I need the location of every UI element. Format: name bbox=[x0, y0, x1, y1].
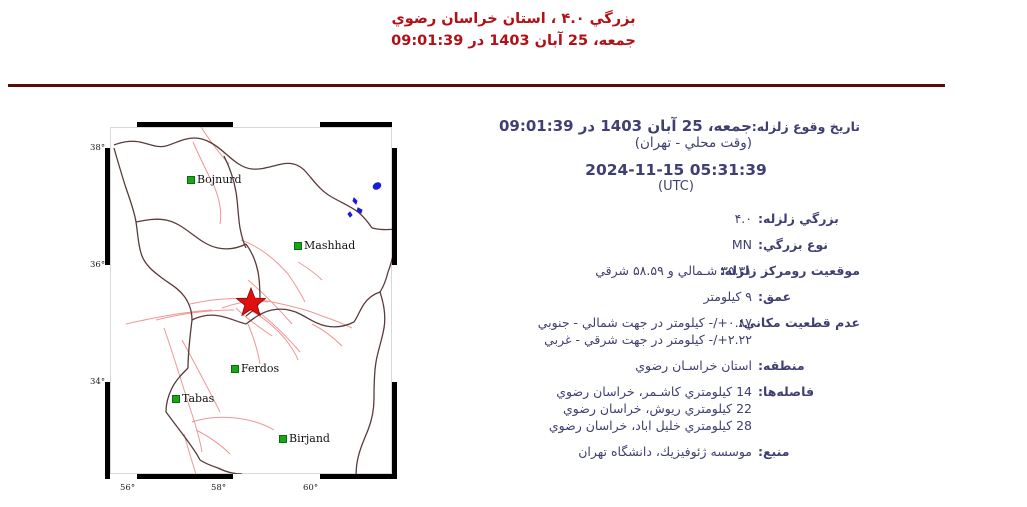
detail-label-magnitude-type: نوع بزرگي: bbox=[752, 236, 860, 253]
map-xtick-60: 60° bbox=[303, 483, 318, 493]
detail-value-source: موسسه ژئوفیزیك، دانشگاه تهران bbox=[430, 443, 752, 460]
map-ytick-36: 36° bbox=[90, 260, 105, 270]
uncertainty-north-south: ۰.۸۷+/- کیلومتر در جهت شمالي - جنوبي bbox=[430, 314, 752, 331]
header-divider bbox=[8, 84, 945, 87]
utc-datetime-value: 2024-11-15 05:31:39 bbox=[492, 161, 860, 179]
distance-item-3: 28 کیلومتري خلیل اباد، خراسان رضوي bbox=[430, 417, 752, 434]
detail-row-depth: عمق: ۹ کیلومتر bbox=[430, 288, 860, 305]
detail-value-magnitude-type: MN bbox=[430, 236, 752, 253]
city-label: Mashhad bbox=[304, 239, 355, 252]
page-header: بزرگي ۴.۰ ، استان خراسان رضوي جمعه، 25 آ… bbox=[0, 8, 1027, 52]
map-xtick-56: 56° bbox=[120, 483, 135, 493]
epicenter-map: 38° 36° 34° 56° 58° 60° Bojnurd Mashhad … bbox=[96, 112, 416, 497]
earthquake-details: تاريخ وقوع زلزله: جمعه، 25 آبان 1403 در … bbox=[430, 118, 860, 469]
detail-row-region: منطقه: استان خراسـان رضوي bbox=[430, 357, 860, 374]
uncertainty-east-west: ۲.۲۲+/- کیلومتر در جهت شرقي - غربي bbox=[430, 331, 752, 348]
map-ytick-38: 38° bbox=[90, 143, 105, 153]
detail-value-magnitude: ۴.۰ bbox=[430, 210, 752, 227]
map-city-ferdos: Ferdos bbox=[231, 362, 279, 375]
distance-item-2: 22 کیلومتري ریوش، خراسان رضوي bbox=[430, 400, 752, 417]
detail-utc-block: 2024-11-15 05:31:39 (UTC) bbox=[430, 161, 860, 194]
city-marker-icon bbox=[172, 395, 180, 403]
city-label: Birjand bbox=[289, 432, 330, 445]
detail-label-uncertainty: عدم قطعيت مکاني: bbox=[752, 314, 860, 331]
datetime-local-note: (وقت محلي - تهران) bbox=[430, 135, 752, 152]
city-marker-icon bbox=[294, 242, 302, 250]
detail-value-datetime: جمعه، 25 آبان 1403 در 09:01:39 (وقت محلي… bbox=[430, 118, 752, 152]
header-title-magnitude-region: بزرگي ۴.۰ ، استان خراسان رضوي bbox=[0, 8, 1027, 30]
detail-row-epicenter: موقعيت رومركز زلزله: ۳۵.۳۱ شـمالي و ۵۸.۵… bbox=[430, 262, 860, 279]
detail-row-uncertainty: عدم قطعيت مکاني: ۰.۸۷+/- کیلومتر در جهت … bbox=[430, 314, 860, 348]
detail-row-datetime: تاريخ وقوع زلزله: جمعه، 25 آبان 1403 در … bbox=[430, 118, 860, 152]
map-city-mashhad: Mashhad bbox=[294, 239, 355, 252]
city-label: Bojnurd bbox=[197, 173, 242, 186]
detail-value-depth: ۹ کیلومتر bbox=[430, 288, 752, 305]
detail-row-magnitude-type: نوع بزرگي: MN bbox=[430, 236, 860, 253]
detail-row-source: منبع: موسسه ژئوفیزیك، دانشگاه تهران bbox=[430, 443, 860, 460]
detail-row-distances: فاصله‌ها: 14 کیلومتري کاشـمر، خراسان رضو… bbox=[430, 383, 860, 434]
city-marker-icon bbox=[231, 365, 239, 373]
detail-label-depth: عمق: bbox=[752, 288, 860, 305]
detail-label-distances: فاصله‌ها: bbox=[752, 383, 860, 400]
detail-value-region: استان خراسـان رضوي bbox=[430, 357, 752, 374]
detail-label-datetime: تاريخ وقوع زلزله: bbox=[752, 118, 860, 135]
header-title-datetime: جمعه، 25 آبان 1403 در 09:01:39 bbox=[0, 30, 1027, 52]
detail-row-magnitude: بزرگي زلزله: ۴.۰ bbox=[430, 210, 860, 227]
city-marker-icon bbox=[187, 176, 195, 184]
detail-value-distances: 14 کیلومتري کاشـمر، خراسان رضوي 22 کیلوم… bbox=[430, 383, 752, 434]
detail-label-magnitude: بزرگي زلزله: bbox=[752, 210, 860, 227]
detail-value-epicenter: ۳۵.۳۱ شـمالي و ۵۸.۵۹ شرقي bbox=[430, 262, 752, 279]
distance-item-1: 14 کیلومتري کاشـمر، خراسان رضوي bbox=[430, 383, 752, 400]
detail-value-uncertainty: ۰.۸۷+/- کیلومتر در جهت شمالي - جنوبي ۲.۲… bbox=[430, 314, 752, 348]
map-city-tabas: Tabas bbox=[172, 392, 214, 405]
map-city-bojnurd: Bojnurd bbox=[187, 173, 242, 186]
map-city-birjand: Birjand bbox=[279, 432, 330, 445]
detail-label-epicenter: موقعيت رومركز زلزله: bbox=[752, 262, 860, 279]
utc-note: (UTC) bbox=[492, 179, 860, 194]
datetime-local-value: جمعه، 25 آبان 1403 در 09:01:39 bbox=[430, 118, 752, 135]
city-label: Ferdos bbox=[241, 362, 279, 375]
city-label: Tabas bbox=[182, 392, 214, 405]
city-marker-icon bbox=[279, 435, 287, 443]
map-xtick-58: 58° bbox=[211, 483, 226, 493]
detail-label-region: منطقه: bbox=[752, 357, 860, 374]
detail-label-source: منبع: bbox=[752, 443, 860, 460]
map-ytick-34: 34° bbox=[90, 377, 105, 387]
